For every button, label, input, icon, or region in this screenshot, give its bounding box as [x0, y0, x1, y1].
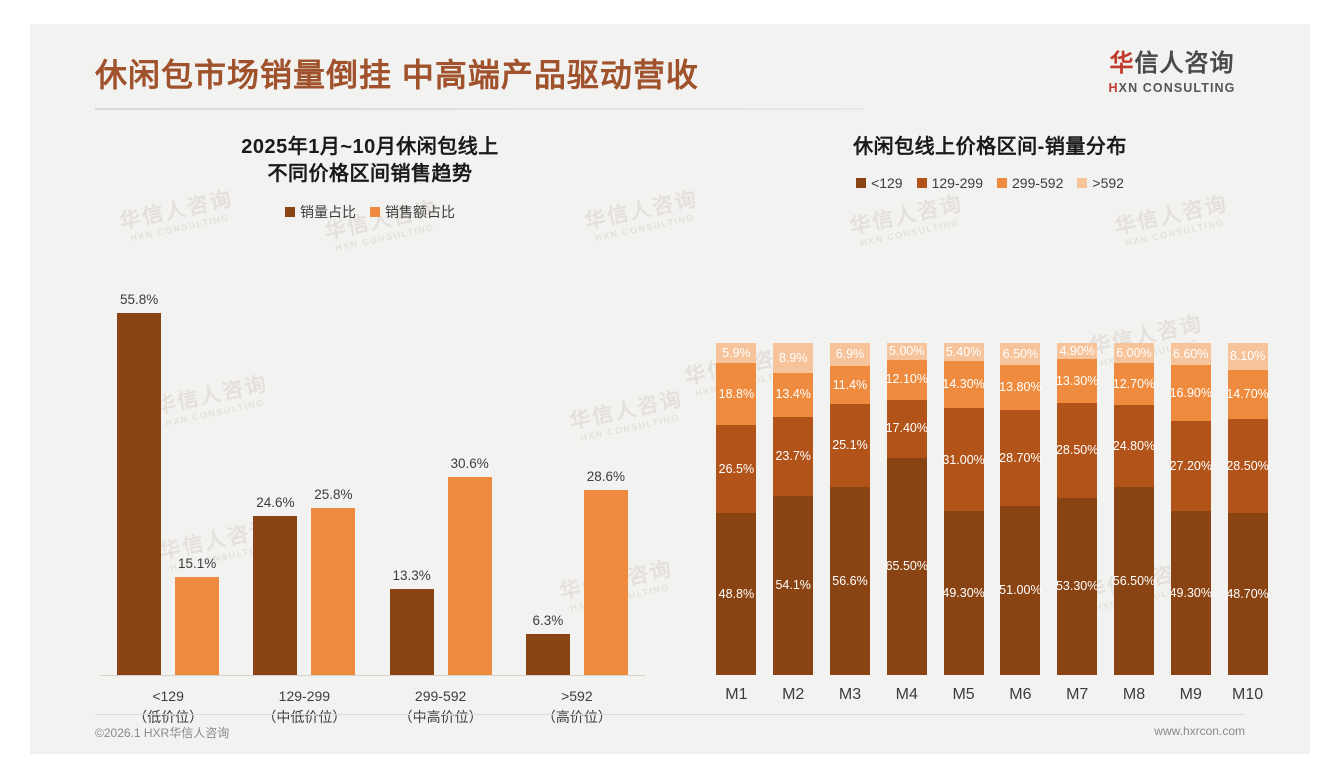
x-axis-label-tier: （中高价位） — [373, 707, 509, 728]
bar-group: 55.8%15.1% — [100, 286, 236, 675]
x-axis-label: M4 — [878, 686, 935, 704]
bar-column: 25.8% — [311, 286, 355, 675]
brand-logo-en-accent: H — [1109, 81, 1119, 95]
x-axis-label: 299-592（中高价位） — [373, 686, 509, 728]
right-legend-item[interactable]: 299-592 — [997, 175, 1063, 191]
left-legend-item[interactable]: 销售额占比 — [370, 202, 455, 222]
brand-logo-cn-rest: 信人咨询 — [1135, 50, 1235, 77]
stack-segment[interactable]: 13.4% — [773, 373, 813, 417]
left-legend-item[interactable]: 销量占比 — [285, 202, 356, 222]
stack-segment[interactable]: 26.5% — [716, 425, 756, 513]
x-axis-label: >592（高价位） — [509, 686, 645, 728]
left-legend-label: 销量占比 — [300, 202, 356, 222]
stack-segment-label: 4.90% — [1059, 345, 1094, 358]
stack-segment[interactable]: 31.00% — [944, 408, 984, 511]
left-chart-axis — [100, 675, 645, 676]
stack-segment-label: 11.4% — [833, 379, 868, 392]
x-axis-label: M5 — [935, 686, 992, 704]
header-divider — [95, 108, 865, 110]
stack-segment[interactable]: 4.90% — [1057, 343, 1097, 359]
x-axis-label-range: <129 — [100, 686, 236, 707]
bar-group: 6.3%28.6% — [509, 286, 645, 675]
brand-logo: 华信人咨询 HXN CONSULTING — [1092, 50, 1252, 95]
left-chart-bar-groups: 55.8%15.1%24.6%25.8%13.3%30.6%6.3%28.6% — [100, 286, 645, 675]
stack-column: 6.60%16.90%27.20%49.30% — [1162, 286, 1219, 675]
stack-segment-label: 49.30% — [1170, 587, 1212, 600]
bar-value-label: 13.3% — [392, 568, 430, 583]
x-axis-label: M10 — [1219, 686, 1276, 704]
bar[interactable] — [175, 577, 219, 675]
stack-segment[interactable]: 48.70% — [1228, 513, 1268, 675]
stack-segment-label: 6.9% — [836, 348, 865, 361]
stack-segment[interactable]: 5.9% — [716, 343, 756, 363]
stack-segment-label: 31.00% — [942, 454, 984, 467]
stack-segment-label: 56.6% — [832, 575, 867, 588]
bar-column: 28.6% — [584, 286, 628, 675]
bar[interactable] — [390, 589, 434, 675]
stack-segment-label: 28.70% — [999, 452, 1041, 465]
legend-swatch-icon — [285, 207, 295, 217]
stack-segment-label: 14.70% — [1226, 388, 1268, 401]
stack-segment-label: 5.9% — [722, 347, 751, 360]
stack-segment-label: 53.30% — [1056, 580, 1098, 593]
x-axis-label: M9 — [1162, 686, 1219, 704]
stack-segment-label: 5.00% — [889, 345, 924, 358]
stacked-bar[interactable]: 6.00%12.70%24.80%56.50% — [1114, 343, 1154, 675]
bar[interactable] — [448, 477, 492, 675]
stack-segment-label: 25.1% — [832, 439, 867, 452]
right-chart-panel: 休闲包线上价格区间-销量分布 <129129-299299-592>592 5.… — [690, 134, 1290, 704]
stack-column: 5.40%14.30%31.00%49.30% — [935, 286, 992, 675]
bar-value-label: 24.6% — [256, 495, 294, 510]
brand-logo-cn-accent: 华 — [1110, 50, 1135, 77]
right-legend-item[interactable]: <129 — [856, 175, 903, 191]
stack-segment[interactable]: 54.1% — [773, 496, 813, 675]
stack-segment[interactable]: 27.20% — [1171, 421, 1211, 511]
stack-column: 6.9%11.4%25.1%56.6% — [822, 286, 879, 675]
stack-segment-label: 13.30% — [1056, 375, 1098, 388]
stack-segment-label: 27.20% — [1170, 460, 1212, 473]
right-legend-item[interactable]: >592 — [1077, 175, 1124, 191]
stack-segment[interactable]: 49.30% — [944, 511, 984, 675]
left-legend-label: 销售额占比 — [385, 202, 455, 222]
bar[interactable] — [526, 634, 570, 675]
stack-segment[interactable]: 65.50% — [887, 458, 927, 675]
stack-segment[interactable]: 6.60% — [1171, 343, 1211, 365]
stack-segment[interactable]: 6.50% — [1000, 343, 1040, 365]
brand-logo-en: HXN CONSULTING — [1092, 81, 1252, 95]
stack-segment[interactable]: 8.10% — [1228, 343, 1268, 370]
stack-segment-label: 56.50% — [1113, 575, 1155, 588]
right-legend-label: 129-299 — [932, 175, 983, 191]
x-axis-label: <129（低价位） — [100, 686, 236, 728]
right-legend-label: <129 — [871, 175, 903, 191]
stack-segment[interactable]: 28.50% — [1057, 403, 1097, 498]
stack-segment[interactable]: 56.50% — [1114, 487, 1154, 675]
bar-column: 30.6% — [448, 286, 492, 675]
stack-segment[interactable]: 16.90% — [1171, 365, 1211, 421]
infographic-card: 华信人咨询 HXN CONSULTING 华信人咨询 HXN CONSULTIN… — [30, 24, 1310, 754]
stack-segment-label: 5.40% — [946, 346, 981, 359]
stack-segment[interactable]: 5.40% — [944, 343, 984, 361]
stack-segment[interactable]: 13.30% — [1057, 359, 1097, 403]
right-chart-stacked-bars: 5.9%18.8%26.5%48.8%8.9%13.4%23.7%54.1%6.… — [708, 286, 1276, 675]
footer-website: www.hxrcon.com — [1154, 724, 1245, 738]
bar[interactable] — [584, 490, 628, 675]
stack-segment-label: 18.8% — [719, 388, 754, 401]
legend-swatch-icon — [1077, 178, 1087, 188]
bar-group: 13.3%30.6% — [373, 286, 509, 675]
right-legend-label: >592 — [1092, 175, 1124, 191]
bar-column: 15.1% — [175, 286, 219, 675]
stack-segment-label: 13.80% — [999, 381, 1041, 394]
x-axis-label-range: 129-299 — [236, 686, 372, 707]
header: 休闲包市场销量倒挂 中高端产品驱动营收 华信人咨询 HXN CONSULTING — [30, 24, 1310, 116]
stack-segment[interactable]: 48.8% — [716, 513, 756, 675]
right-chart-title: 休闲包线上价格区间-销量分布 — [690, 134, 1290, 161]
right-legend-label: 299-592 — [1012, 175, 1063, 191]
stack-segment-label: 48.8% — [719, 588, 754, 601]
bar-column: 24.6% — [253, 286, 297, 675]
brand-logo-en-rest: XN CONSULTING — [1119, 81, 1236, 95]
stack-segment[interactable]: 13.80% — [1000, 365, 1040, 411]
left-chart-title-line2: 不同价格区间销售趋势 — [60, 161, 680, 188]
stack-segment-label: 49.30% — [942, 587, 984, 600]
brand-logo-cn: 华信人咨询 — [1092, 50, 1252, 78]
stack-segment-label: 8.10% — [1230, 350, 1265, 363]
stack-segment[interactable]: 53.30% — [1057, 498, 1097, 675]
bar-value-label: 55.8% — [120, 292, 158, 307]
stack-segment-label: 14.30% — [942, 378, 984, 391]
page-title: 休闲包市场销量倒挂 中高端产品驱动营收 — [95, 50, 699, 96]
bar-column: 13.3% — [390, 286, 434, 675]
right-chart-plot: 5.9%18.8%26.5%48.8%8.9%13.4%23.7%54.1%6.… — [708, 286, 1276, 676]
stack-segment-label: 28.50% — [1056, 444, 1098, 457]
footer-divider — [95, 714, 1245, 715]
stack-segment[interactable]: 28.70% — [1000, 410, 1040, 505]
stack-segment[interactable]: 8.9% — [773, 343, 813, 373]
stack-segment[interactable]: 24.80% — [1114, 405, 1154, 487]
stack-segment-label: 51.00% — [999, 584, 1041, 597]
stack-segment-label: 6.00% — [1116, 347, 1151, 360]
bar-column: 55.8% — [117, 286, 161, 675]
x-axis-label: M1 — [708, 686, 765, 704]
x-axis-label: M7 — [1049, 686, 1106, 704]
slide-canvas: 华信人咨询 HXN CONSULTING 华信人咨询 HXN CONSULTIN… — [0, 0, 1340, 780]
bar-value-label: 28.6% — [587, 469, 625, 484]
footer-copyright: ©2026.1 HXR华信人咨询 — [95, 724, 229, 741]
stack-segment[interactable]: 23.7% — [773, 417, 813, 496]
right-legend-item[interactable]: 129-299 — [917, 175, 983, 191]
stack-segment[interactable]: 12.70% — [1114, 363, 1154, 405]
bar-value-label: 6.3% — [532, 613, 563, 628]
stack-segment-label: 54.1% — [775, 579, 810, 592]
left-chart-title: 2025年1月~10月休闲包线上 不同价格区间销售趋势 — [60, 134, 680, 188]
x-axis-label: M2 — [765, 686, 822, 704]
stacked-bar[interactable]: 4.90%13.30%28.50%53.30% — [1057, 343, 1097, 675]
stack-column: 8.10%14.70%28.50%48.70% — [1219, 286, 1276, 675]
stacked-bar[interactable]: 6.60%16.90%27.20%49.30% — [1171, 343, 1211, 675]
stack-column: 8.9%13.4%23.7%54.1% — [765, 286, 822, 675]
stack-segment-label: 6.50% — [1003, 348, 1038, 361]
left-chart-x-axis-labels: <129（低价位）129-299（中低价位）299-592（中高价位）>592（… — [100, 686, 645, 728]
stack-segment-label: 48.70% — [1226, 588, 1268, 601]
x-axis-label: M8 — [1106, 686, 1163, 704]
left-chart-plot: 55.8%15.1%24.6%25.8%13.3%30.6%6.3%28.6% — [100, 286, 645, 676]
stack-segment[interactable]: 56.6% — [830, 487, 870, 675]
stack-segment-label: 6.60% — [1173, 348, 1208, 361]
stack-segment-label: 26.5% — [719, 463, 754, 476]
stack-column: 6.50%13.80%28.70%51.00% — [992, 286, 1049, 675]
stack-segment-label: 12.70% — [1113, 378, 1155, 391]
stacked-bar[interactable]: 8.10%14.70%28.50%48.70% — [1228, 343, 1268, 675]
legend-swatch-icon — [370, 207, 380, 217]
bar-value-label: 15.1% — [178, 556, 216, 571]
right-chart-legend: <129129-299299-592>592 — [690, 175, 1290, 191]
bar-value-label: 25.8% — [314, 487, 352, 502]
stack-segment[interactable]: 25.1% — [830, 404, 870, 487]
stack-segment-label: 23.7% — [775, 450, 810, 463]
stack-segment-label: 24.80% — [1113, 440, 1155, 453]
x-axis-label-tier: （高价位） — [509, 707, 645, 728]
stack-segment-label: 28.50% — [1226, 460, 1268, 473]
stack-segment[interactable]: 14.70% — [1228, 370, 1268, 419]
left-chart-legend: 销量占比销售额占比 — [60, 202, 680, 222]
stack-column: 6.00%12.70%24.80%56.50% — [1106, 286, 1163, 675]
stacked-bar[interactable]: 5.00%12.10%17.40%65.50% — [887, 343, 927, 675]
stack-segment[interactable]: 28.50% — [1228, 419, 1268, 514]
stack-segment-label: 17.40% — [886, 422, 928, 435]
stack-column: 5.9%18.8%26.5%48.8% — [708, 286, 765, 675]
stack-column: 5.00%12.10%17.40%65.50% — [878, 286, 935, 675]
stack-segment[interactable]: 6.00% — [1114, 343, 1154, 363]
stacked-bar[interactable]: 8.9%13.4%23.7%54.1% — [773, 343, 813, 675]
stack-segment[interactable]: 5.00% — [887, 343, 927, 360]
legend-swatch-icon — [856, 178, 866, 188]
bar-group: 24.6%25.8% — [236, 286, 372, 675]
bar[interactable] — [253, 516, 297, 675]
stack-segment[interactable]: 51.00% — [1000, 506, 1040, 675]
stack-segment-label: 65.50% — [886, 560, 928, 573]
stack-segment[interactable]: 11.4% — [830, 366, 870, 404]
x-axis-label-tier: （中低价位） — [236, 707, 372, 728]
stacked-bar[interactable]: 6.50%13.80%28.70%51.00% — [1000, 343, 1040, 675]
stack-segment-label: 8.9% — [779, 352, 808, 365]
legend-swatch-icon — [917, 178, 927, 188]
left-chart-title-line1: 2025年1月~10月休闲包线上 — [60, 134, 680, 161]
stack-segment[interactable]: 12.10% — [887, 360, 927, 400]
bar[interactable] — [311, 508, 355, 675]
stacked-bar[interactable]: 5.40%14.30%31.00%49.30% — [944, 343, 984, 675]
bar-column: 6.3% — [526, 286, 570, 675]
stack-segment[interactable]: 17.40% — [887, 400, 927, 458]
x-axis-label: M3 — [822, 686, 879, 704]
stack-segment[interactable]: 49.30% — [1171, 511, 1211, 675]
stacked-bar[interactable]: 5.9%18.8%26.5%48.8% — [716, 343, 756, 675]
legend-swatch-icon — [997, 178, 1007, 188]
stack-segment[interactable]: 14.30% — [944, 361, 984, 408]
bar-value-label: 30.6% — [450, 456, 488, 471]
stack-segment[interactable]: 18.8% — [716, 363, 756, 425]
x-axis-label-range: 299-592 — [373, 686, 509, 707]
right-chart-x-axis-labels: M1M2M3M4M5M6M7M8M9M10 — [708, 686, 1276, 704]
stacked-bar[interactable]: 6.9%11.4%25.1%56.6% — [830, 343, 870, 675]
left-chart-panel: 2025年1月~10月休闲包线上 不同价格区间销售趋势 销量占比销售额占比 55… — [60, 134, 680, 704]
stack-column: 4.90%13.30%28.50%53.30% — [1049, 286, 1106, 675]
stack-segment[interactable]: 6.9% — [830, 343, 870, 366]
stack-segment-label: 13.4% — [775, 388, 810, 401]
bar[interactable] — [117, 313, 161, 675]
stack-segment-label: 16.90% — [1170, 387, 1212, 400]
x-axis-label-range: >592 — [509, 686, 645, 707]
stack-segment-label: 12.10% — [886, 373, 928, 386]
x-axis-label: M6 — [992, 686, 1049, 704]
x-axis-label: 129-299（中低价位） — [236, 686, 372, 728]
